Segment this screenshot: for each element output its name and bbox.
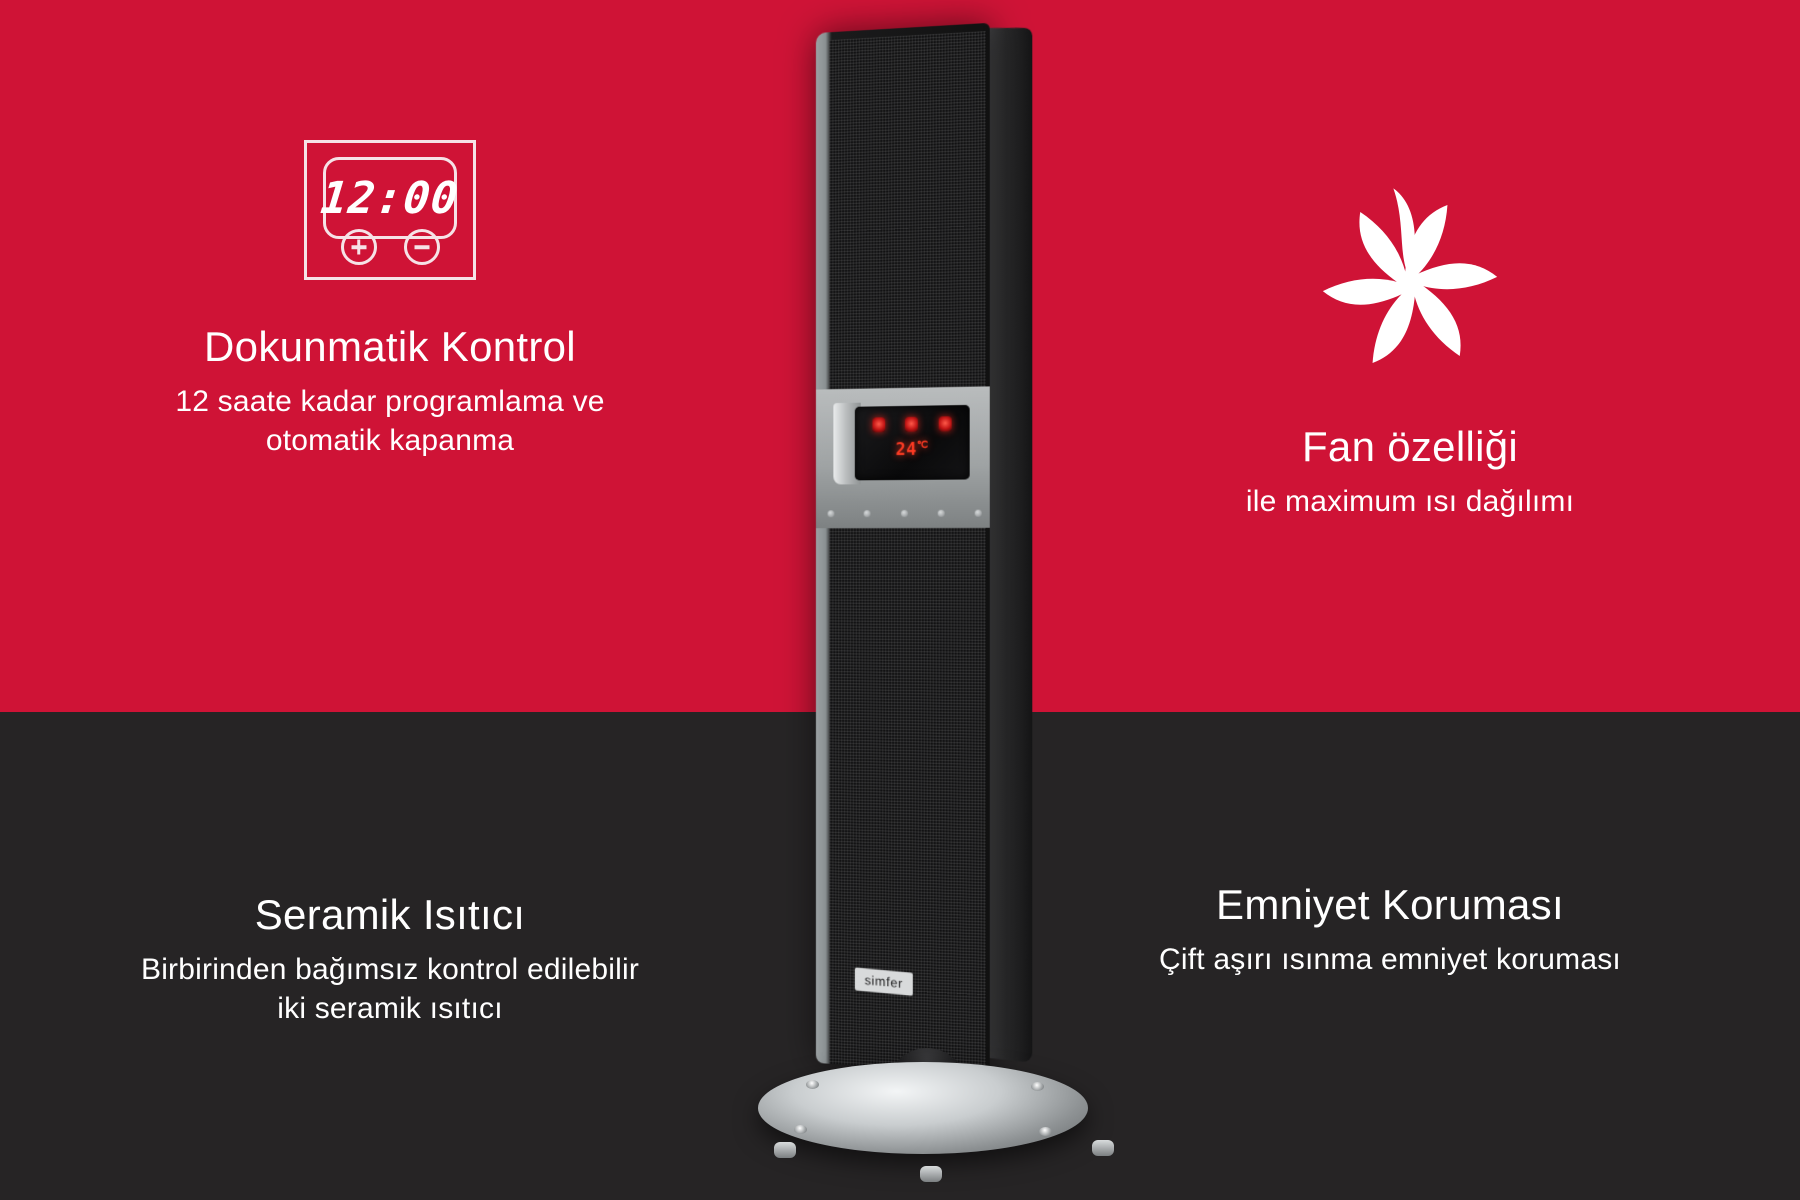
base-foot [774,1142,796,1158]
key-timer-icon[interactable] [901,509,908,516]
feature-ceramic-heater: Seramik Isıtıcı Birbirinden bağımsız kon… [40,890,740,1029]
timer-display-icon: 12:00 [304,140,476,280]
timer-button-row [307,229,473,265]
product-image: 24℃ simfer [780,0,1110,1200]
feature-title: Emniyet Koruması [1020,880,1760,930]
feature-subtitle: ile maximum ısı dağılımı [1060,482,1760,522]
grille-upper [830,31,986,389]
timer-value: 12:00 [319,173,462,224]
feature-subtitle: Birbirinden bağımsız kontrol edilebilir … [40,950,740,1029]
temperature-value: 24 [895,440,916,460]
temperature-unit: ℃ [917,440,929,451]
base-foot [1092,1140,1114,1156]
heater-tower: 24℃ simfer [816,23,990,1073]
feature-subtitle-line2: otomatik kapanma [266,424,514,457]
key-plus-icon[interactable] [937,509,944,516]
touch-key-row [828,506,982,521]
temperature-readout: 24℃ [855,439,970,460]
base-screw [794,1125,807,1134]
feature-subtitle-line1: 12 saate kadar programlama ve [175,385,604,418]
feature-subtitle: Çift aşırı ısınma emniyet koruması [1020,940,1760,980]
plus-icon[interactable] [341,229,377,265]
tower-side-panel [984,28,1033,1063]
feature-title: Fan özelliği [1060,422,1760,472]
product-feature-banner: 12:00 Dokunmatik Kontrol 12 saate kadar … [0,0,1800,1200]
heat-level-1-indicator-icon [905,416,918,431]
base-plate [758,1062,1088,1154]
fan-icon-wrap [1060,180,1760,388]
base-screw [1031,1082,1044,1091]
feature-subtitle-line1: Birbirinden bağımsız kontrol edilebilir [141,953,639,986]
key-mode-icon[interactable] [864,510,871,517]
feature-subtitle-line2: iki seramik ısıtıcı [277,992,503,1025]
feature-title: Dokunmatik Kontrol [60,322,720,372]
heat-level-2-indicator-icon [939,416,952,431]
base-screw [1039,1127,1052,1136]
touch-control-icon-wrap: 12:00 [60,140,720,280]
base-foot [920,1166,942,1182]
timer-screen: 12:00 [323,157,457,239]
tower-front-panel: 24℃ simfer [816,23,990,1073]
led-display: 24℃ [855,405,970,480]
fan-blades-icon [1306,180,1514,388]
minus-icon[interactable] [404,229,440,265]
feature-safety-protection: Emniyet Koruması Çift aşırı ısınma emniy… [1020,880,1760,979]
power-indicator-icon [873,417,886,432]
feature-title: Seramik Isıtıcı [40,890,740,940]
indicator-row [863,413,962,434]
key-power-icon[interactable] [828,510,835,517]
feature-touch-control: 12:00 Dokunmatik Kontrol 12 saate kadar … [60,140,720,461]
base-screw [806,1080,819,1089]
key-minus-icon[interactable] [975,509,982,516]
feature-fan: Fan özelliği ile maximum ısı dağılımı [1060,180,1760,521]
feature-subtitle: 12 saate kadar programlama ve otomatik k… [60,382,720,461]
control-panel: 24℃ [816,386,990,528]
